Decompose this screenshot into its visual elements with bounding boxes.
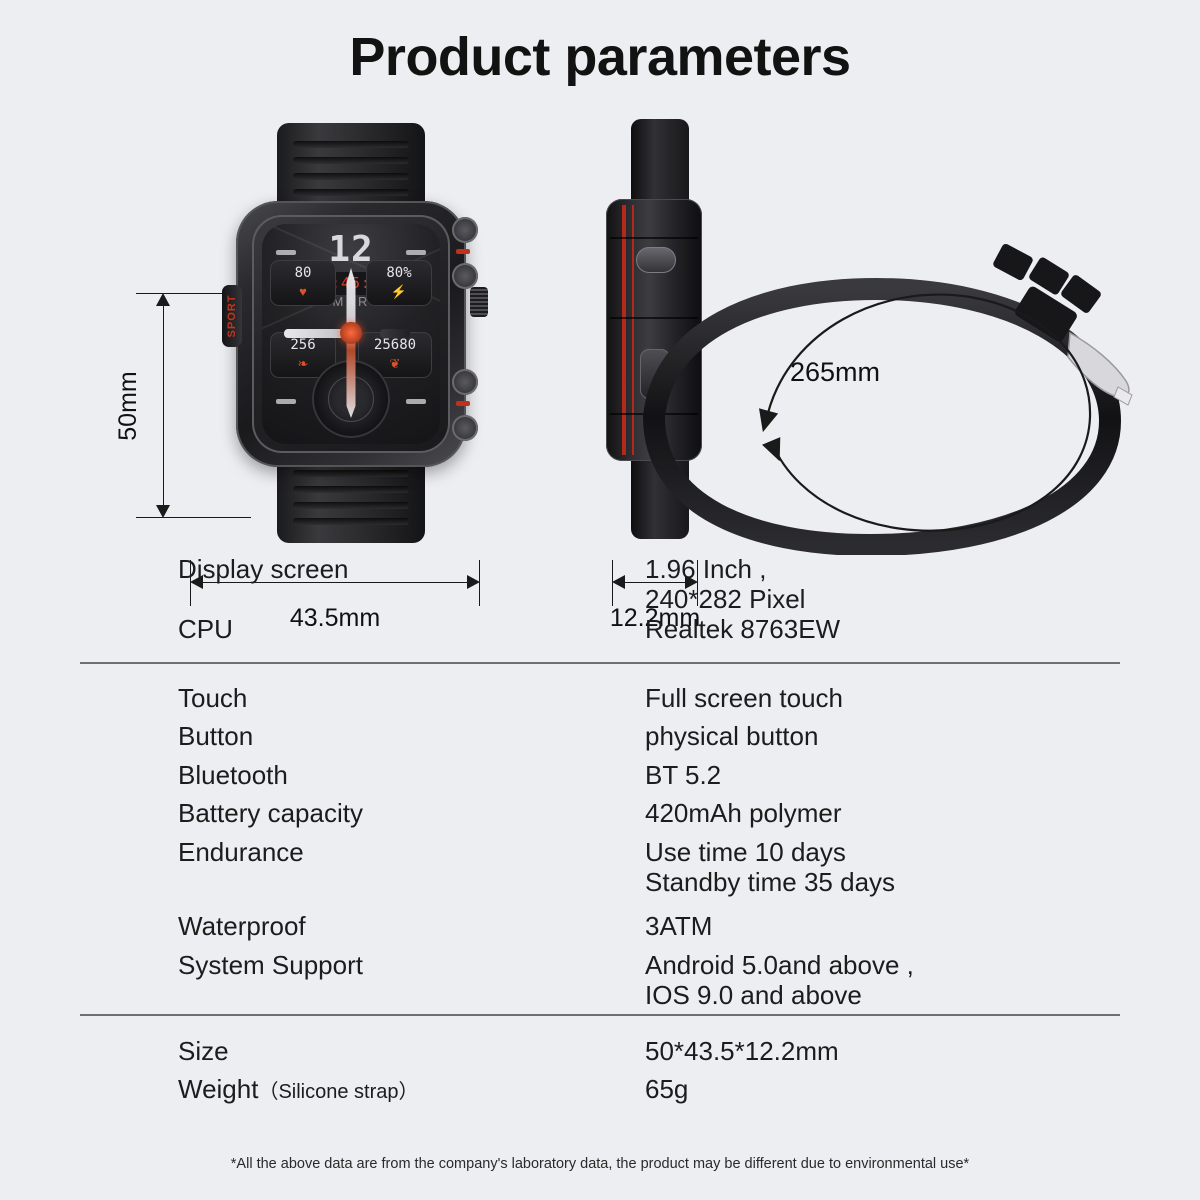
spec-value: 65g	[645, 1074, 688, 1104]
strap-loop-view: 265mm	[640, 205, 1170, 555]
widget-battery: 80% ⚡	[366, 260, 432, 306]
height-dimension-label: 50mm	[114, 371, 143, 440]
spec-value: Android 5.0and above , IOS 9.0 and above	[645, 950, 914, 1011]
watch-bezel: 12 18:45:08 SMART 80 ♥ 80% ⚡	[252, 215, 450, 453]
spec-value: BT 5.2	[645, 760, 721, 790]
widget-value: 25680	[358, 337, 432, 353]
dimension-tick-bottom	[136, 517, 251, 518]
sport-side-label: SPORT	[222, 285, 242, 347]
spec-value: 1.96 Inch , 240*282 Pixel	[645, 554, 805, 615]
heart-icon: ♥	[270, 285, 336, 298]
spec-key: Size	[178, 1036, 229, 1067]
product-diagram: 50mm SPORT	[0, 105, 1200, 530]
width-dimension-label: 43.5mm	[190, 604, 480, 633]
section-divider-2	[80, 1014, 1120, 1016]
spec-key: CPU	[178, 614, 233, 645]
spec-key: Display screen	[178, 554, 349, 585]
spec-key: System Support	[178, 950, 363, 981]
spec-key-main: Weight	[178, 1074, 258, 1104]
case-screw-lower-right	[452, 369, 478, 395]
watch-case: SPORT 12	[236, 201, 466, 467]
arrow-up-icon	[156, 293, 170, 306]
page-title: Product parameters	[0, 26, 1200, 88]
watch-front-view: SPORT 12	[236, 123, 466, 543]
watch-screen[interactable]: 12 18:45:08 SMART 80 ♥ 80% ⚡	[262, 224, 440, 444]
lightning-icon: ⚡	[366, 285, 432, 298]
spec-key: Bluetooth	[178, 760, 288, 791]
widget-value: 80%	[366, 265, 432, 281]
crown-button[interactable]	[470, 287, 488, 317]
watch-hand-right	[380, 329, 410, 338]
spec-key: Endurance	[178, 837, 304, 868]
spec-value: 420mAh polymer	[645, 798, 842, 828]
spec-key: Button	[178, 721, 253, 752]
side-strap-top	[631, 119, 689, 205]
spec-value: 3ATM	[645, 911, 712, 941]
section-divider-1	[80, 662, 1120, 664]
red-accent-mark-upper	[456, 249, 470, 254]
strap-circumference-label: 265mm	[790, 357, 880, 388]
spec-value: 50*43.5*12.2mm	[645, 1036, 839, 1066]
spec-key: Touch	[178, 683, 247, 714]
arrow-right-icon	[467, 575, 480, 589]
widget-value: 80	[270, 265, 336, 281]
widget-heart-rate: 80 ♥	[270, 260, 336, 306]
dimension-line	[163, 295, 164, 516]
spec-key: Waterproof	[178, 911, 306, 942]
spec-key: Weight（Silicone strap）	[178, 1074, 419, 1105]
spec-value: Full screen touch	[645, 683, 843, 713]
product-parameters-page: Product parameters 50mm SPORT	[0, 0, 1200, 1200]
case-screw-upper-right	[452, 263, 478, 289]
spec-value: Realtek 8763EW	[645, 614, 840, 644]
footer-disclaimer: *All the above data are from the company…	[0, 1156, 1200, 1172]
spec-value: physical button	[645, 721, 818, 751]
spec-key: Battery capacity	[178, 798, 363, 829]
height-dimension: 50mm	[128, 293, 198, 518]
arrow-down-icon	[156, 505, 170, 518]
spec-key-sub: （Silicone strap）	[258, 1081, 418, 1103]
widget-value: 256	[270, 337, 336, 353]
watch-hand-hub	[340, 322, 362, 344]
red-accent-mark-lower	[456, 401, 470, 406]
spec-value: Use time 10 days Standby time 35 days	[645, 837, 895, 898]
watch-hand-left	[284, 329, 346, 338]
strap-loop-svg	[640, 205, 1170, 555]
case-screw-bottom-right	[452, 415, 478, 441]
arrow-left-icon	[612, 575, 625, 589]
case-screw-top-right	[452, 217, 478, 243]
